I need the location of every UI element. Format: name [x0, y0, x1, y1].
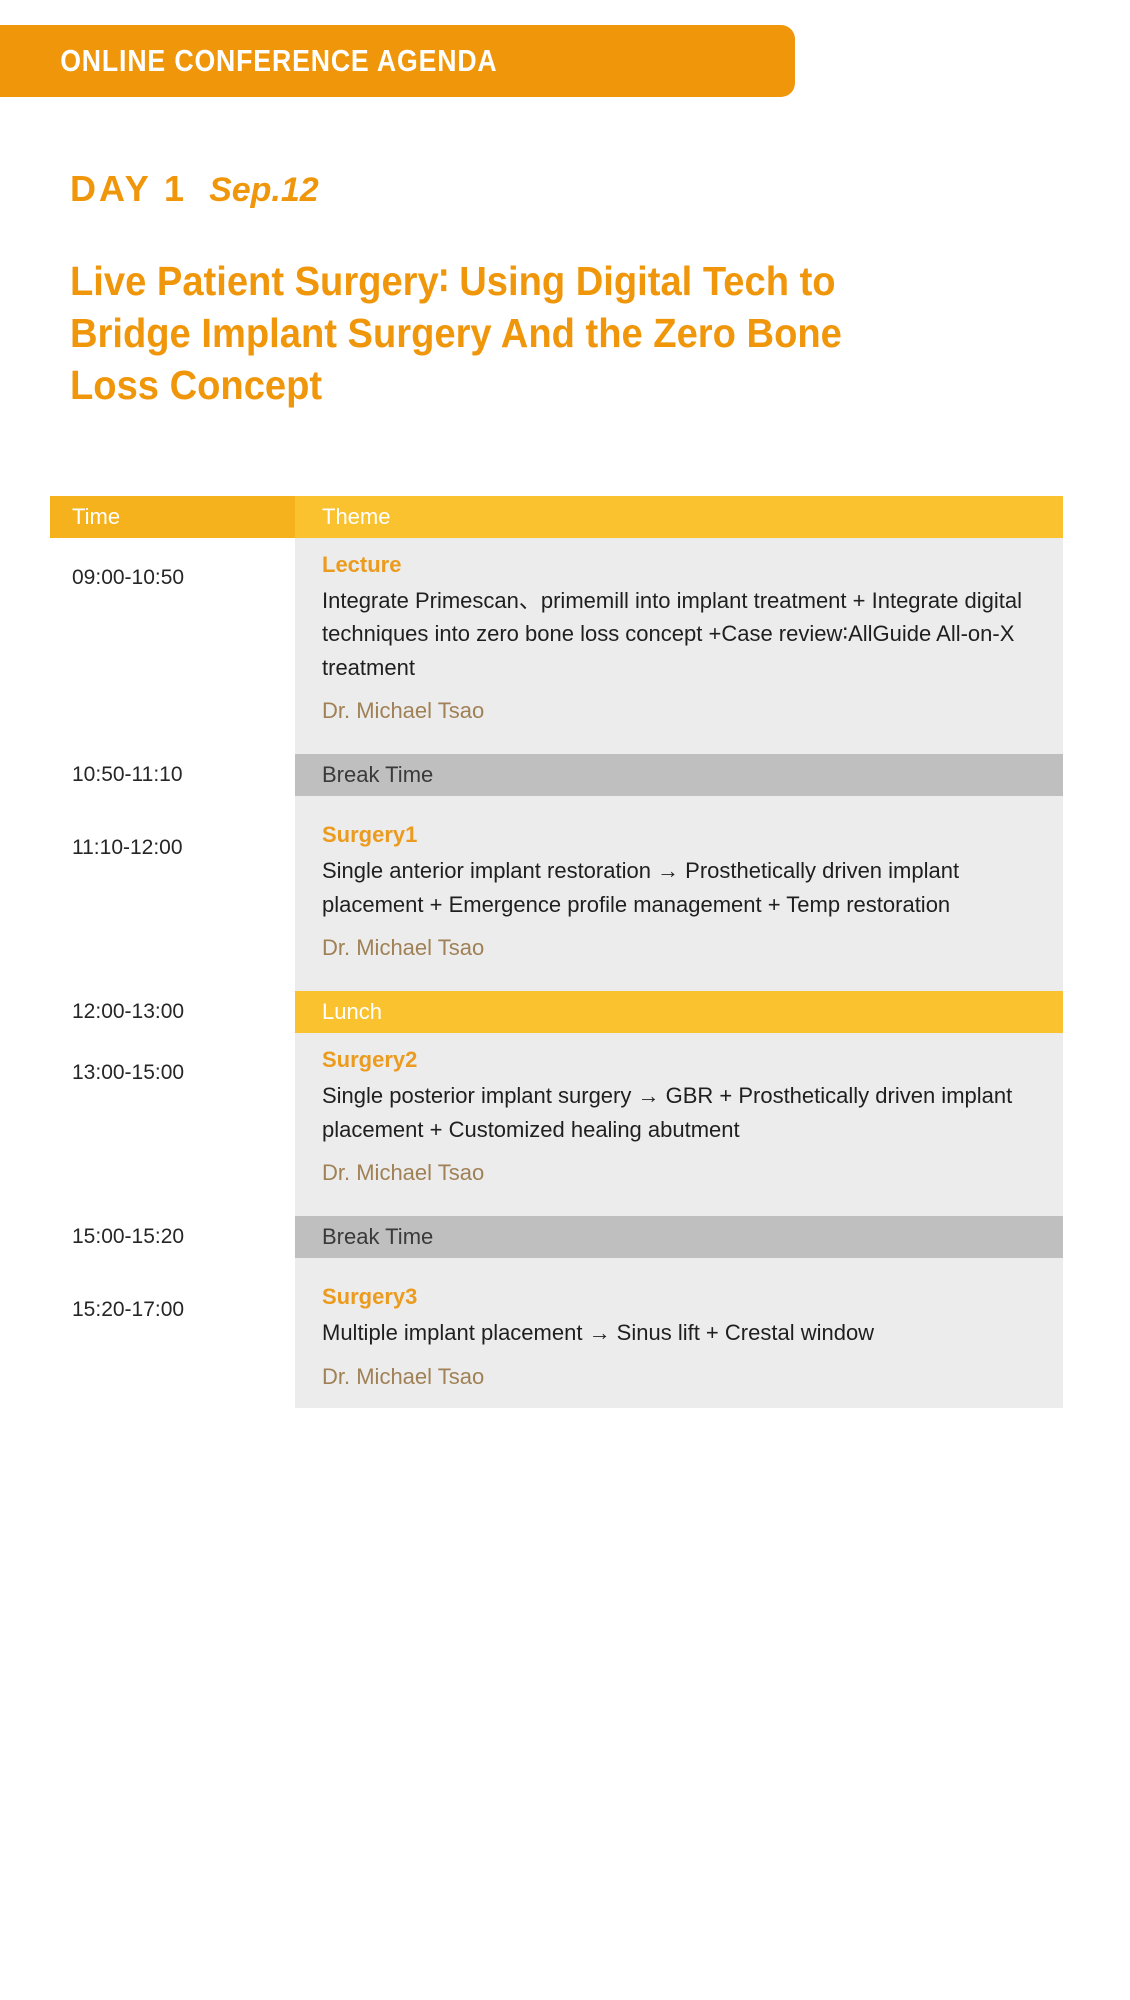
gap-time — [50, 742, 295, 754]
row-gap — [50, 742, 1063, 754]
gap-time — [50, 1258, 295, 1270]
day-label: DAY 1 — [70, 168, 187, 210]
session-description: Single posterior implant surgery → GBR +… — [322, 1079, 1041, 1146]
session-speaker: Dr. Michael Tsao — [322, 1160, 1041, 1186]
session-speaker: Dr. Michael Tsao — [322, 935, 1041, 961]
table-row: 13:00-15:00 Surgery2 Single posterior im… — [50, 1033, 1063, 1204]
session-kind: Surgery1 — [322, 822, 1041, 848]
row-gap — [50, 979, 1063, 991]
cell-time: 12:00-13:00 — [50, 991, 295, 1033]
cell-theme-break: Break Time — [295, 1216, 1063, 1258]
cell-time: 10:50-11:10 — [50, 754, 295, 796]
cell-theme: Lecture Integrate Primescan、primemill in… — [295, 538, 1063, 742]
table-row: 15:20-17:00 Surgery3 Multiple implant pl… — [50, 1270, 1063, 1407]
session-kind: Surgery2 — [322, 1047, 1041, 1073]
row-gap — [50, 796, 1063, 808]
gap-time — [50, 1204, 295, 1216]
table-header-row: Time Theme — [50, 496, 1063, 538]
column-header-theme: Theme — [295, 496, 1063, 538]
cell-theme: Surgery3 Multiple implant placement → Si… — [295, 1270, 1063, 1407]
row-gap — [50, 1204, 1063, 1216]
session-kind: Surgery3 — [322, 1284, 1041, 1310]
session-speaker: Dr. Michael Tsao — [322, 1364, 1041, 1390]
table-row: 12:00-13:00 Lunch — [50, 991, 1063, 1033]
cell-time: 09:00-10:50 — [50, 538, 295, 742]
session-kind: Lecture — [322, 552, 1041, 578]
cell-time: 15:00-15:20 — [50, 1216, 295, 1258]
day-date: Sep.12 — [209, 171, 319, 210]
cell-theme: Surgery2 Single posterior implant surger… — [295, 1033, 1063, 1204]
cell-time: 11:10-12:00 — [50, 808, 295, 979]
column-header-time: Time — [50, 496, 295, 538]
cell-time: 15:20-17:00 — [50, 1270, 295, 1407]
session-description: Single anterior implant restoration → Pr… — [322, 854, 1041, 921]
banner: ONLINE CONFERENCE AGENDA — [0, 25, 795, 97]
agenda-table: Time Theme 09:00-10:50 Lecture Integrate… — [50, 496, 1063, 1408]
gap-theme — [295, 796, 1063, 808]
gap-theme — [295, 979, 1063, 991]
cell-theme-break: Break Time — [295, 754, 1063, 796]
page-title: Live Patient Surgery∶ Using Digital Tech… — [70, 255, 935, 411]
table-row: 11:10-12:00 Surgery1 Single anterior imp… — [50, 808, 1063, 979]
session-description: Integrate Primescan、primemill into impla… — [322, 584, 1041, 684]
gap-time — [50, 796, 295, 808]
session-speaker: Dr. Michael Tsao — [322, 698, 1041, 724]
gap-theme — [295, 1204, 1063, 1216]
row-gap — [50, 1258, 1063, 1270]
gap-time — [50, 979, 295, 991]
agenda-page: ONLINE CONFERENCE AGENDA DAY 1 Sep.12 Li… — [0, 0, 1130, 2000]
cell-theme-lunch: Lunch — [295, 991, 1063, 1033]
banner-title: ONLINE CONFERENCE AGENDA — [0, 43, 498, 79]
table-row: 10:50-11:10 Break Time — [50, 754, 1063, 796]
cell-time: 13:00-15:00 — [50, 1033, 295, 1204]
gap-theme — [295, 742, 1063, 754]
table-row: 15:00-15:20 Break Time — [50, 1216, 1063, 1258]
table-row: 09:00-10:50 Lecture Integrate Primescan、… — [50, 538, 1063, 742]
gap-theme — [295, 1258, 1063, 1270]
session-description: Multiple implant placement → Sinus lift … — [322, 1316, 1041, 1349]
day-line: DAY 1 Sep.12 — [70, 168, 319, 210]
cell-theme: Surgery1 Single anterior implant restora… — [295, 808, 1063, 979]
